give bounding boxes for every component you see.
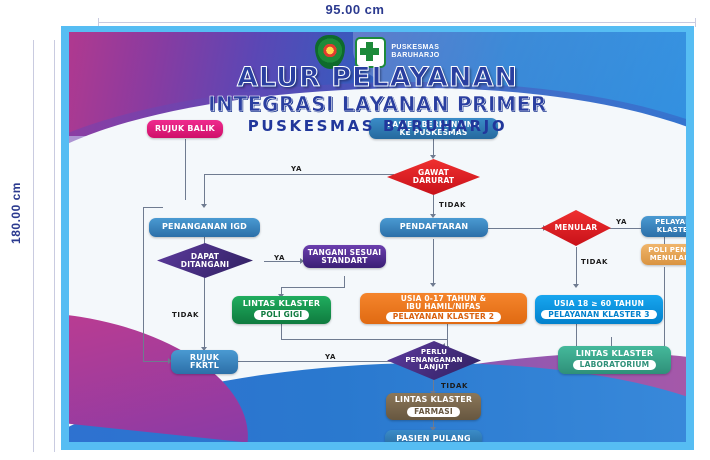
edge-gawat-tidak <box>433 195 434 216</box>
width-dimension-label: 95.00 cm <box>0 2 710 17</box>
poster-artboard: PUSKESMAS BARUHARJO ALUR PELAYANAN INTEG… <box>61 26 694 450</box>
node-pasien-pulang[interactable]: PASIEN PULANG <box>385 430 482 442</box>
node-poli-penyakit-menular[interactable]: POLI PENYAKIT MENULAR / TB <box>641 244 686 265</box>
node-lintas-klaster-farmasi[interactable]: LINTAS KLASTER FARMASI <box>386 393 481 420</box>
node-rujuk-fkrtl[interactable]: RUJUK FKRTL <box>171 350 238 374</box>
node-pasien-pulang-label: PASIEN PULANG <box>396 435 471 442</box>
poster-paper: PUSKESMAS BARUHARJO ALUR PELAYANAN INTEG… <box>69 32 686 442</box>
edge-label-lanjut-tidak: TIDAK <box>441 382 468 390</box>
arrow-menular-tidak <box>573 284 579 288</box>
page-title: ALUR PELAYANAN <box>69 62 686 93</box>
edge-pendaftaran-to-menular <box>488 228 546 229</box>
brand-line-2: BARUHARJO <box>391 52 439 60</box>
edge-gawat-ya-down <box>204 174 205 206</box>
node-poli-gigi-chip: POLI GIGI <box>254 310 310 320</box>
node-menular[interactable]: MENULAR <box>541 210 611 246</box>
node-menular-label: MENULAR <box>555 224 598 232</box>
node-rujuk-fkrtl-label: RUJUK FKRTL <box>190 354 219 371</box>
node-laboratorium-title: LINTAS KLASTER <box>576 350 653 358</box>
top-dimension-guide <box>98 22 696 23</box>
arrow-gawat-ya <box>201 204 207 208</box>
page-subtitle: INTEGRASI LAYANAN PRIMER <box>69 92 686 116</box>
node-dapat-ditangani[interactable]: DAPAT DITANGANI <box>157 243 253 278</box>
puskesmas-brand-text: PUSKESMAS BARUHARJO <box>391 44 439 59</box>
edge-pasien-to-gawat <box>433 139 434 156</box>
brand-line-1: PUSKESMAS <box>391 44 439 52</box>
node-lintas-klaster-laboratorium[interactable]: LINTAS KLASTER LABORATORIUM <box>558 346 671 374</box>
node-perlu-penanganan-lanjut-label: PERLU PENANGANAN LANJUT <box>405 349 462 371</box>
edge-poli-down <box>664 267 665 355</box>
node-tangani-sesuai-standart[interactable]: TANGANI SESUAI STANDART <box>303 245 386 268</box>
screenshot-canvas: 95.00 cm 180.00 cm PUSKESMAS BARUHARJO <box>0 0 710 460</box>
edge-rujuk-balik-down <box>185 139 186 200</box>
edge-label-ditangani-tidak: TIDAK <box>172 311 199 319</box>
poster-titles: ALUR PELAYANAN INTEGRASI LAYANAN PRIMER … <box>69 62 686 135</box>
page-subtitle-2: PUSKESMAS BARUHARJO <box>69 117 686 135</box>
left-dimension-guide-2 <box>54 40 55 452</box>
node-klaster-2-chip: PELAYANAN KLASTER 2 <box>386 312 501 322</box>
edge-left-rail <box>143 207 144 361</box>
node-pelayanan-klaster-4-label: PELAYANAN KLASTER 4 <box>655 219 686 234</box>
node-penanganan-igd[interactable]: PENANGANAN IGD <box>149 218 260 237</box>
node-penanganan-igd-label: PENANGANAN IGD <box>162 223 247 231</box>
arrow-pendaftaran-down <box>430 283 436 287</box>
edge-gigi-down <box>281 324 282 339</box>
node-klaster-3-title: USIA 18 ≥ 60 TAHUN <box>554 300 644 308</box>
node-gawat-darurat[interactable]: GAWAT DARURAT <box>387 159 480 195</box>
node-pendaftaran-label: PENDAFTARAN <box>400 223 469 231</box>
edge-left-rail-bottom <box>143 361 171 362</box>
node-pelayanan-klaster-3[interactable]: USIA 18 ≥ 60 TAHUN PELAYANAN KLASTER 3 <box>535 295 663 324</box>
edge-label-lanjut-ya: YA <box>325 353 336 361</box>
left-dimension-guide <box>33 40 34 452</box>
node-perlu-penanganan-lanjut[interactable]: PERLU PENANGANAN LANJUT <box>387 341 481 380</box>
dimension-tick-right <box>695 18 696 27</box>
edge-left-rail-top <box>143 207 163 208</box>
node-klaster-3-chip: PELAYANAN KLASTER 3 <box>541 310 656 320</box>
node-klaster-2-title: USIA 0-17 TAHUN & IBU HAMIL/NIFAS <box>401 295 487 311</box>
height-dimension-label: 180.00 cm <box>9 173 23 253</box>
edge-label-gawat-ya: YA <box>291 165 302 173</box>
node-gawat-darurat-label: GAWAT DARURAT <box>413 169 454 185</box>
edge-ditangani-tidak <box>204 277 205 349</box>
node-pelayanan-klaster-2[interactable]: USIA 0-17 TAHUN & IBU HAMIL/NIFAS PELAYA… <box>360 293 527 324</box>
node-poli-gigi-title: LINTAS KLASTER <box>243 300 320 308</box>
edge-label-menular-tidak: TIDAK <box>581 258 608 266</box>
edge-label-ditangani-ya: YA <box>274 254 285 262</box>
edge-menular-ya <box>606 228 644 229</box>
node-lintas-klaster-poli-gigi[interactable]: LINTAS KLASTER POLI GIGI <box>232 296 331 324</box>
edge-lanjut-ya <box>236 361 399 362</box>
edge-label-menular-ya: YA <box>616 218 627 226</box>
edge-standart-down <box>344 276 345 287</box>
edge-standart-rail <box>281 287 345 288</box>
node-pendaftaran[interactable]: PENDAFTARAN <box>380 218 488 237</box>
node-farmasi-chip: FARMASI <box>407 407 460 417</box>
edge-pendaftaran-down <box>433 239 434 285</box>
node-dapat-ditangani-label: DAPAT DITANGANI <box>181 253 229 269</box>
edge-gawat-ya <box>204 174 394 175</box>
edge-gigi-rail <box>281 339 447 340</box>
node-poli-penyakit-menular-label: POLI PENYAKIT MENULAR / TB <box>648 247 686 262</box>
node-farmasi-title: LINTAS KLASTER <box>395 396 472 404</box>
edge-label-gawat-tidak: TIDAK <box>439 201 466 209</box>
node-tangani-sesuai-standart-label: TANGANI SESUAI STANDART <box>308 249 381 265</box>
node-laboratorium-chip: LABORATORIUM <box>573 360 657 370</box>
node-pelayanan-klaster-4[interactable]: PELAYANAN KLASTER 4 <box>641 216 686 237</box>
edge-menular-tidak <box>576 247 577 286</box>
